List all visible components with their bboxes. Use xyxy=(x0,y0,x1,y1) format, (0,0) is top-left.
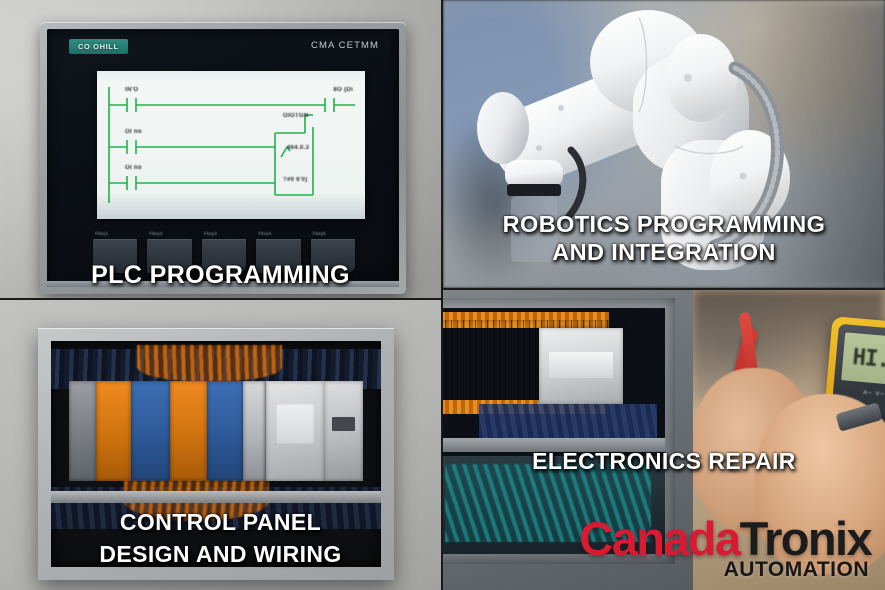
hmi-brand-badge: CO OHILL xyxy=(69,39,128,54)
caption-robotics-line1: ROBOTICS PROGRAMMING xyxy=(443,211,885,238)
hmi-function-key-5-label: Fkey5 xyxy=(313,231,326,236)
panel-plc-programming[interactable]: CO OHILL CMA CETMM xyxy=(0,0,441,298)
multimeter-reading: HI.H xyxy=(852,345,885,374)
terminal-block-orange-2 xyxy=(170,381,207,481)
terminal-end-bracket xyxy=(69,381,96,481)
ladder-logic-diagram: IN'O 8O (Di OIOTGN OI no 464.0.3 OI no ?… xyxy=(97,71,365,219)
canadatronix-logo[interactable]: CanadaTronix AUTOMATION xyxy=(579,515,871,580)
panel-electronics-repair[interactable]: HI.H A~ V~ ELECTRONICS REPAIR CanadaTron… xyxy=(443,290,885,590)
repair-contactor-module xyxy=(539,328,623,404)
contactor-module xyxy=(266,381,324,481)
panel-robotics-programming[interactable]: ROBOTICS PROGRAMMING AND INTEGRATION xyxy=(443,0,885,288)
hmi-model-label: CMA CETMM xyxy=(311,40,379,51)
service-collage: CO OHILL CMA CETMM xyxy=(0,0,885,590)
caption-control-panel-line1: CONTROL PANEL xyxy=(0,509,441,536)
ladder-label-branch-top: OIOTGN xyxy=(283,113,308,119)
orange-wire-loops xyxy=(137,345,282,381)
logo-word-canada: Canada xyxy=(579,512,739,565)
ladder-label-branch-bottom: ?#0 6'0) xyxy=(283,177,308,183)
ladder-label-rung1-contact: IN'O xyxy=(125,87,138,93)
caption-electronics-repair: ELECTRONICS REPAIR xyxy=(443,448,885,475)
caption-control-panel-line2: DESIGN AND WIRING xyxy=(0,541,441,568)
caption-robotics-line2: AND INTEGRATION xyxy=(443,239,885,266)
ladder-label-rung1-coil: 8O (Di xyxy=(334,87,353,93)
logo-wordmark: CanadaTronix xyxy=(579,515,871,562)
ladder-label-rung3-contact: OI no xyxy=(125,165,142,171)
hmi-terminal[interactable]: CO OHILL CMA CETMM xyxy=(40,22,406,294)
terminal-block-blue-1 xyxy=(131,381,170,481)
hmi-function-key-2-label: Fkey2 xyxy=(149,231,162,236)
hmi-function-key-4-label: Fkey4 xyxy=(258,231,271,236)
ladder-label-branch-mid: 464.0.3 xyxy=(287,145,309,151)
hmi-display-screen[interactable]: IN'O 8O (Di OIOTGN OI no 464.0.3 OI no ?… xyxy=(97,71,365,219)
terminal-block-row xyxy=(69,381,363,481)
caption-plc-programming: PLC PROGRAMMING xyxy=(0,261,441,290)
terminal-block-blue-2 xyxy=(207,381,242,481)
din-rail-assembly xyxy=(51,349,381,479)
cabinet-shelf xyxy=(51,491,381,503)
hmi-bezel: CO OHILL CMA CETMM xyxy=(47,29,399,287)
ladder-label-rung2-contact: OI no xyxy=(125,129,142,135)
hmi-function-key-3-label: Fkey3 xyxy=(204,231,217,236)
hmi-function-key-1-label: Fkey1 xyxy=(95,231,108,236)
multimeter-lcd-display: HI.H xyxy=(841,332,885,386)
relay-module xyxy=(324,381,363,481)
panel-control-panel-design[interactable]: CONTROL PANEL DESIGN AND WIRING xyxy=(0,300,441,590)
terminal-block-gray xyxy=(243,381,266,481)
hmi-top-bar: CO OHILL CMA CETMM xyxy=(47,29,399,63)
terminal-block-orange-1 xyxy=(96,381,131,481)
